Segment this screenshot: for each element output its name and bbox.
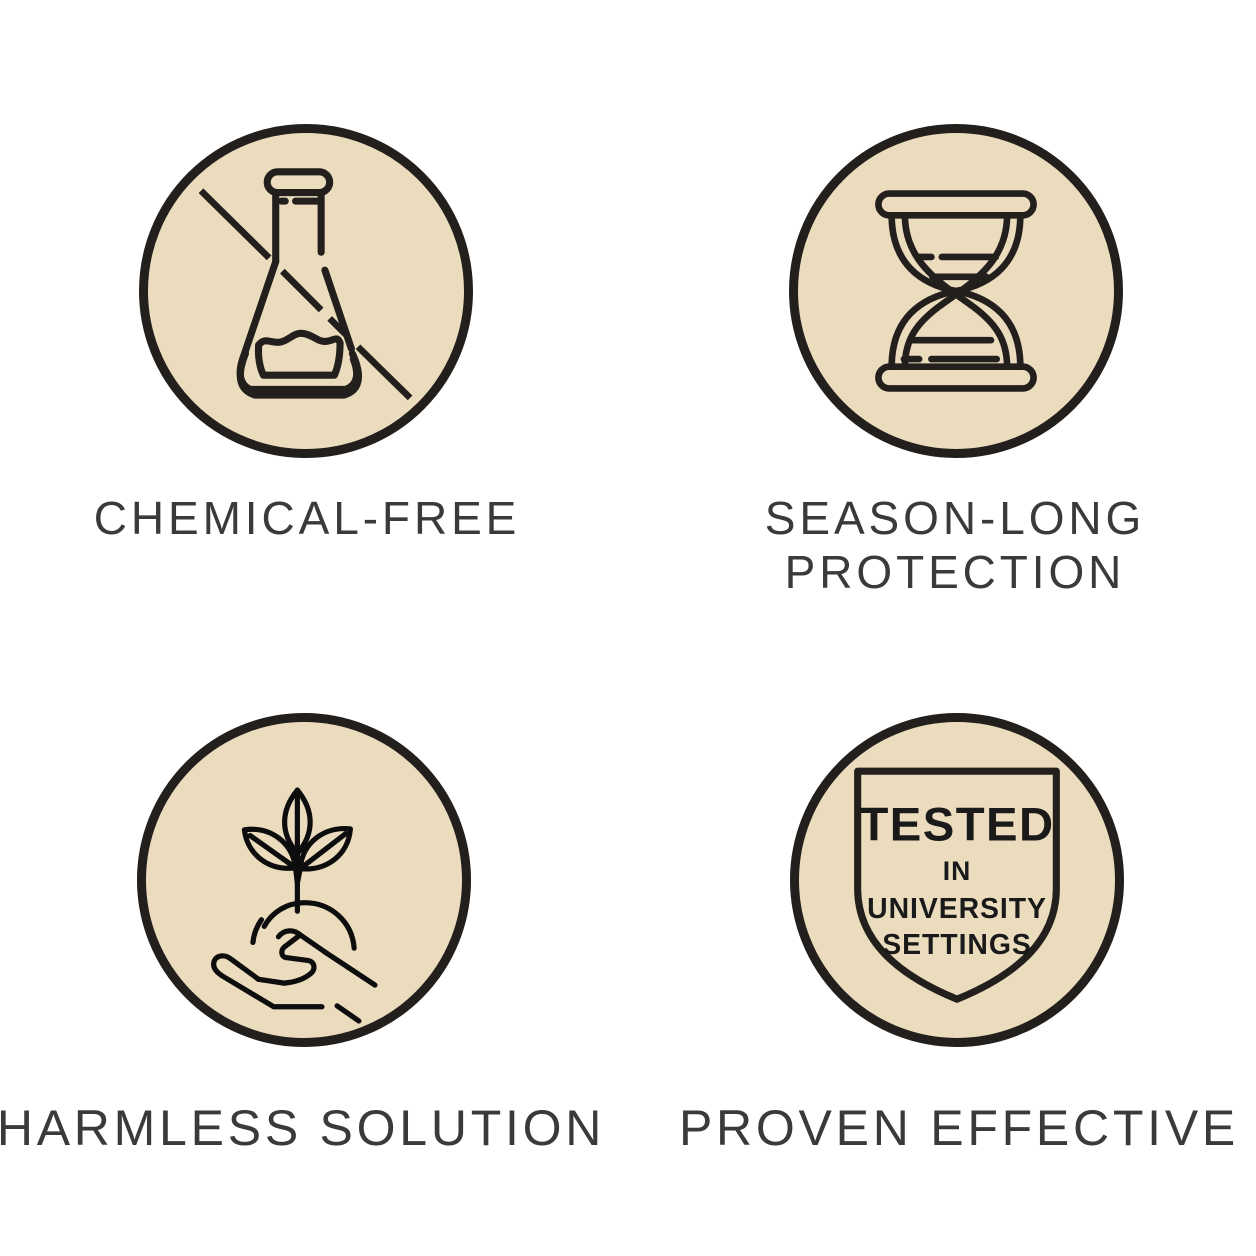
shield-text-settings: SETTINGS bbox=[882, 929, 1031, 961]
shield-text-tested: TESTED bbox=[859, 798, 1054, 851]
shield-tested-icon: TESTED IN UNIVERSITY SETTINGS bbox=[790, 713, 1124, 1047]
shield-text-university: UNIVERSITY bbox=[867, 893, 1047, 925]
badge-chemical-free: CHEMICAL-FREE bbox=[0, 0, 628, 628]
badge-proven-effective: TESTED IN UNIVERSITY SETTINGS PROVEN EFF… bbox=[628, 628, 1256, 1256]
no-chemicals-flask-icon bbox=[139, 124, 473, 458]
badge-season-long-protection: SEASON-LONG PROTECTION bbox=[628, 0, 1256, 628]
badge-label-chemical-free: CHEMICAL-FREE bbox=[94, 492, 521, 546]
hand-holding-seedling-icon bbox=[137, 713, 471, 1047]
shield-text-in: IN bbox=[943, 856, 971, 886]
badge-label-harmless-solution: HARMLESS SOLUTION bbox=[0, 1099, 605, 1158]
feature-badge-grid: CHEMICAL-FREE bbox=[0, 0, 1256, 1256]
badge-label-proven-effective: PROVEN EFFECTIVE bbox=[679, 1099, 1239, 1158]
hourglass-icon bbox=[789, 124, 1123, 458]
badge-label-season-long-protection: SEASON-LONG PROTECTION bbox=[765, 492, 1145, 600]
badge-harmless-solution: HARMLESS SOLUTION bbox=[0, 628, 628, 1256]
